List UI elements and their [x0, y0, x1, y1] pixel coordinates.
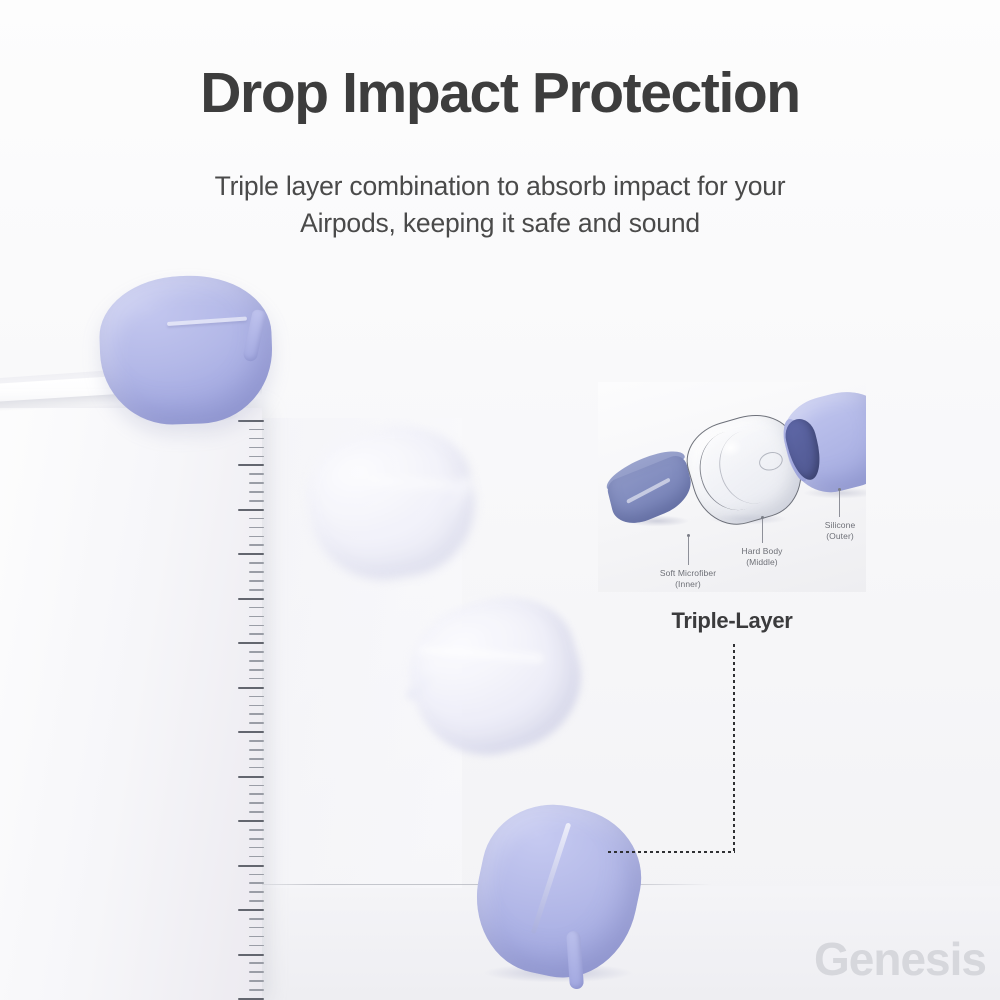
connector-line-vertical	[733, 644, 735, 853]
ruler-tick-major	[238, 509, 264, 511]
label-soft-microfiber: Soft Microfiber (Inner)	[628, 568, 748, 590]
ruler-tick-minor	[249, 722, 264, 724]
label-silicone-position: (Outer)	[784, 531, 866, 542]
ruler-tick-minor	[249, 482, 264, 484]
ruler-tick-minor	[249, 856, 264, 858]
ruler-tick-minor	[249, 456, 264, 458]
ruler-tick-minor	[249, 758, 264, 760]
ruler-tick-minor	[249, 607, 264, 609]
ruler-tick-minor	[249, 491, 264, 493]
label-soft-microfiber-name: Soft Microfiber	[628, 568, 748, 579]
ruler-tick-minor	[249, 740, 264, 742]
ruler-tick-minor	[249, 660, 264, 662]
ruler-tick-minor	[249, 633, 264, 635]
ruler-tick-minor	[249, 544, 264, 546]
ruler-tick-minor	[249, 891, 264, 893]
ruler-tick-major	[238, 909, 264, 911]
ruler-tick-minor	[249, 882, 264, 884]
ruler-tick-minor	[249, 518, 264, 520]
ruler-tick-minor	[249, 945, 264, 947]
ruler-tick-major	[238, 687, 264, 689]
ruler-tick-minor	[249, 625, 264, 627]
ruler-tick-minor	[249, 811, 264, 813]
ruler-tick-minor	[249, 616, 264, 618]
ruler-tick-minor	[249, 793, 264, 795]
ruler-tick-minor	[249, 971, 264, 973]
label-silicone: Silicone (Outer)	[784, 520, 866, 542]
ruler-tick-major	[238, 820, 264, 822]
ruler-tick-major	[238, 598, 264, 600]
connector-line-horizontal	[608, 851, 735, 853]
airpods-case-top	[97, 273, 274, 427]
exploded-view-panel: Soft Microfiber (Inner) Hard Body (Middl…	[598, 382, 866, 592]
leader-line-silicone	[839, 491, 840, 517]
ruler-tick-minor	[249, 589, 264, 591]
ruler-tick-minor	[249, 536, 264, 538]
ruler-tick-minor	[249, 447, 264, 449]
ruler-tick-minor	[249, 927, 264, 929]
ruler-tick-minor	[249, 562, 264, 564]
pedestal-block	[0, 408, 262, 1000]
airpods-case-falling-1	[299, 416, 484, 590]
page-subtitle: Triple layer combination to absorb impac…	[180, 168, 820, 241]
ruler-tick-minor	[249, 429, 264, 431]
ruler-tick-minor	[249, 678, 264, 680]
ruler-tick-minor	[249, 989, 264, 991]
ruler-tick-minor	[249, 580, 264, 582]
ruler-tick-major	[238, 553, 264, 555]
measuring-ruler	[230, 420, 264, 998]
ruler-tick-minor	[249, 785, 264, 787]
leader-line-microfiber	[688, 537, 689, 565]
ruler-tick-minor	[249, 980, 264, 982]
ruler-tick-minor	[249, 705, 264, 707]
page-title: Drop Impact Protection	[0, 64, 1000, 124]
ruler-tick-major	[238, 464, 264, 466]
ruler-tick-minor	[249, 900, 264, 902]
ruler-tick-minor	[249, 669, 264, 671]
triple-layer-caption: Triple-Layer	[598, 608, 866, 634]
ruler-tick-major	[238, 954, 264, 956]
ruler-tick-minor	[249, 527, 264, 529]
ruler-tick-minor	[249, 962, 264, 964]
label-soft-microfiber-position: (Inner)	[628, 579, 748, 590]
ruler-tick-minor	[249, 847, 264, 849]
ruler-tick-minor	[249, 696, 264, 698]
label-hard-body: Hard Body (Middle)	[706, 546, 818, 568]
marketing-image: Drop Impact Protection Triple layer comb…	[0, 0, 1000, 1000]
ruler-tick-minor	[249, 571, 264, 573]
ruler-tick-minor	[249, 918, 264, 920]
ruler-tick-minor	[249, 500, 264, 502]
ruler-tick-minor	[249, 749, 264, 751]
ruler-tick-minor	[249, 713, 264, 715]
label-silicone-name: Silicone	[784, 520, 866, 531]
ruler-tick-minor	[249, 936, 264, 938]
ruler-tick-minor	[249, 874, 264, 876]
ruler-tick-minor	[249, 438, 264, 440]
ruler-tick-minor	[249, 838, 264, 840]
ruler-tick-major	[238, 776, 264, 778]
ruler-tick-minor	[249, 829, 264, 831]
ruler-tick-minor	[249, 802, 264, 804]
ruler-tick-minor	[249, 651, 264, 653]
ruler-tick-minor	[249, 473, 264, 475]
ruler-tick-major	[238, 731, 264, 733]
ruler-tick-major	[238, 642, 264, 644]
label-hard-body-name: Hard Body	[706, 546, 818, 557]
label-hard-body-position: (Middle)	[706, 557, 818, 568]
ruler-tick-major	[238, 865, 264, 867]
brand-watermark: Genesis	[814, 932, 986, 986]
ruler-tick-minor	[249, 767, 264, 769]
leader-line-hardbody	[762, 519, 763, 543]
